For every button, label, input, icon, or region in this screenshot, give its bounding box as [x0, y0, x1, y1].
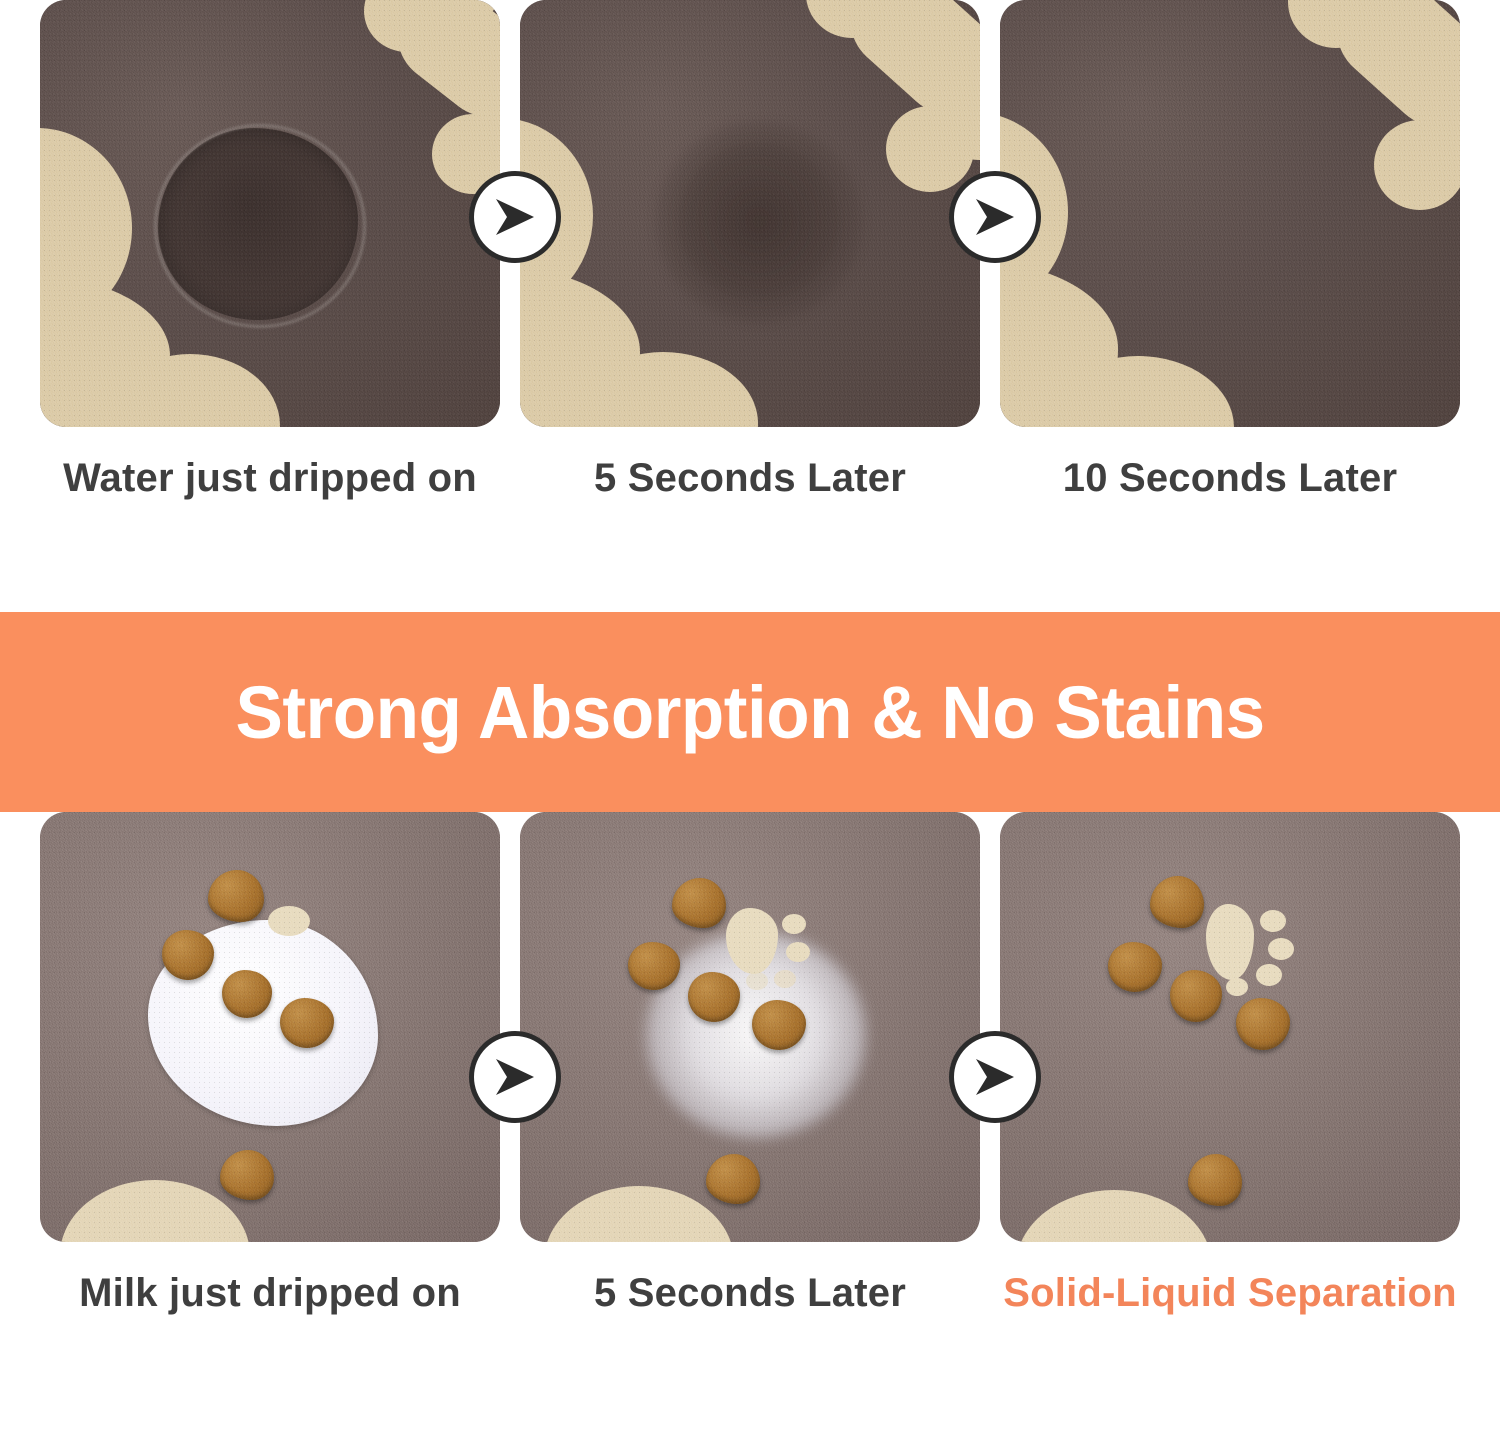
- infographic-root: Water just dripped on: [0, 0, 1500, 1447]
- caption-water-3: 10 Seconds Later: [1000, 452, 1460, 505]
- chevron-right-arrow-icon: [493, 197, 537, 237]
- grain-texture: [1000, 812, 1460, 1242]
- caption-milk-1: Milk just dripped on: [40, 1267, 500, 1320]
- chevron-right-arrow-icon: [973, 197, 1017, 237]
- caption-water-1: Water just dripped on: [40, 452, 500, 505]
- grain-texture: [520, 812, 980, 1242]
- water-photo-5-seconds: [520, 0, 980, 427]
- milk-panel-3: Solid-Liquid Separation: [1000, 812, 1460, 1242]
- milk-panel-2: 5 Seconds Later: [520, 812, 980, 1242]
- caption-milk-2: 5 Seconds Later: [520, 1267, 980, 1320]
- milk-panel-1: Milk just dripped on: [40, 812, 500, 1242]
- water-panel-1: Water just dripped on: [40, 0, 500, 427]
- water-test-panels: Water just dripped on: [40, 0, 1460, 427]
- water-photo-10-seconds: [1000, 0, 1460, 427]
- grain-texture: [520, 0, 980, 427]
- headline-text: Strong Absorption & No Stains: [235, 670, 1264, 755]
- water-panel-3: 10 Seconds Later: [1000, 0, 1460, 427]
- water-test-row: Water just dripped on: [0, 0, 1500, 612]
- headline-banner: Strong Absorption & No Stains: [0, 612, 1500, 812]
- arrow-badge-milk-2[interactable]: [949, 1031, 1041, 1123]
- arrow-badge-water-2[interactable]: [949, 171, 1041, 263]
- water-panel-2: 5 Seconds Later: [520, 0, 980, 427]
- caption-water-2: 5 Seconds Later: [520, 452, 980, 505]
- arrow-badge-water-1[interactable]: [469, 171, 561, 263]
- milk-test-panels: Milk just dripped on: [40, 812, 1460, 1242]
- grain-texture: [1000, 0, 1460, 427]
- chevron-right-arrow-icon: [493, 1057, 537, 1097]
- milk-photo-just-dripped: [40, 812, 500, 1242]
- water-photo-just-dripped: [40, 0, 500, 427]
- milk-photo-5-seconds: [520, 812, 980, 1242]
- arrow-badge-milk-1[interactable]: [469, 1031, 561, 1123]
- milk-photo-separation: [1000, 812, 1460, 1242]
- chevron-right-arrow-icon: [973, 1057, 1017, 1097]
- milk-test-row: Milk just dripped on: [0, 812, 1500, 1447]
- caption-milk-3: Solid-Liquid Separation: [1000, 1267, 1460, 1320]
- grain-texture: [40, 0, 500, 427]
- grain-texture: [40, 812, 500, 1242]
